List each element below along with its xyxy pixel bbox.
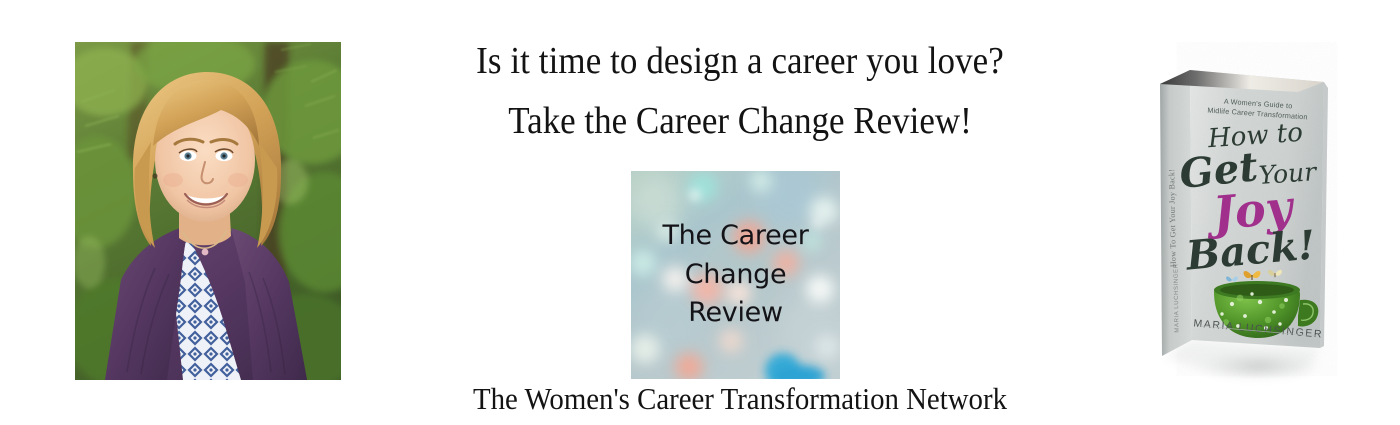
network-tagline: The Women's Career Transformation Networ… [387, 381, 1094, 417]
promo-banner: Is it time to design a career you love? … [0, 0, 1400, 425]
svg-text:How To Get Your Joy Back!: How To Get Your Joy Back! [1167, 169, 1178, 268]
book-cover-image[interactable]: How To Get Your Joy Back! MARIA LUCHSING… [1148, 48, 1358, 388]
author-portrait-photo [75, 42, 341, 380]
tile-caption-line-3: Review [688, 299, 783, 327]
headline-block: Is it time to design a career you love? … [360, 38, 1120, 144]
portrait-illustration [75, 42, 341, 380]
headline-line-2: Take the Career Change Review! [390, 98, 1089, 144]
career-change-review-tile[interactable]: The Career Change Review [631, 171, 840, 379]
headline-line-1: Is it time to design a career you love? [390, 38, 1089, 84]
tile-caption-line-2: Change [685, 261, 787, 289]
book-illustration: How To Get Your Joy Back! MARIA LUCHSING… [1148, 48, 1358, 388]
tile-caption-line-1: The Career [662, 222, 808, 250]
tile-caption: The Career Change Review [631, 171, 840, 379]
svg-text:MARIA LUCHSINGER: MARIA LUCHSINGER [1173, 263, 1180, 332]
